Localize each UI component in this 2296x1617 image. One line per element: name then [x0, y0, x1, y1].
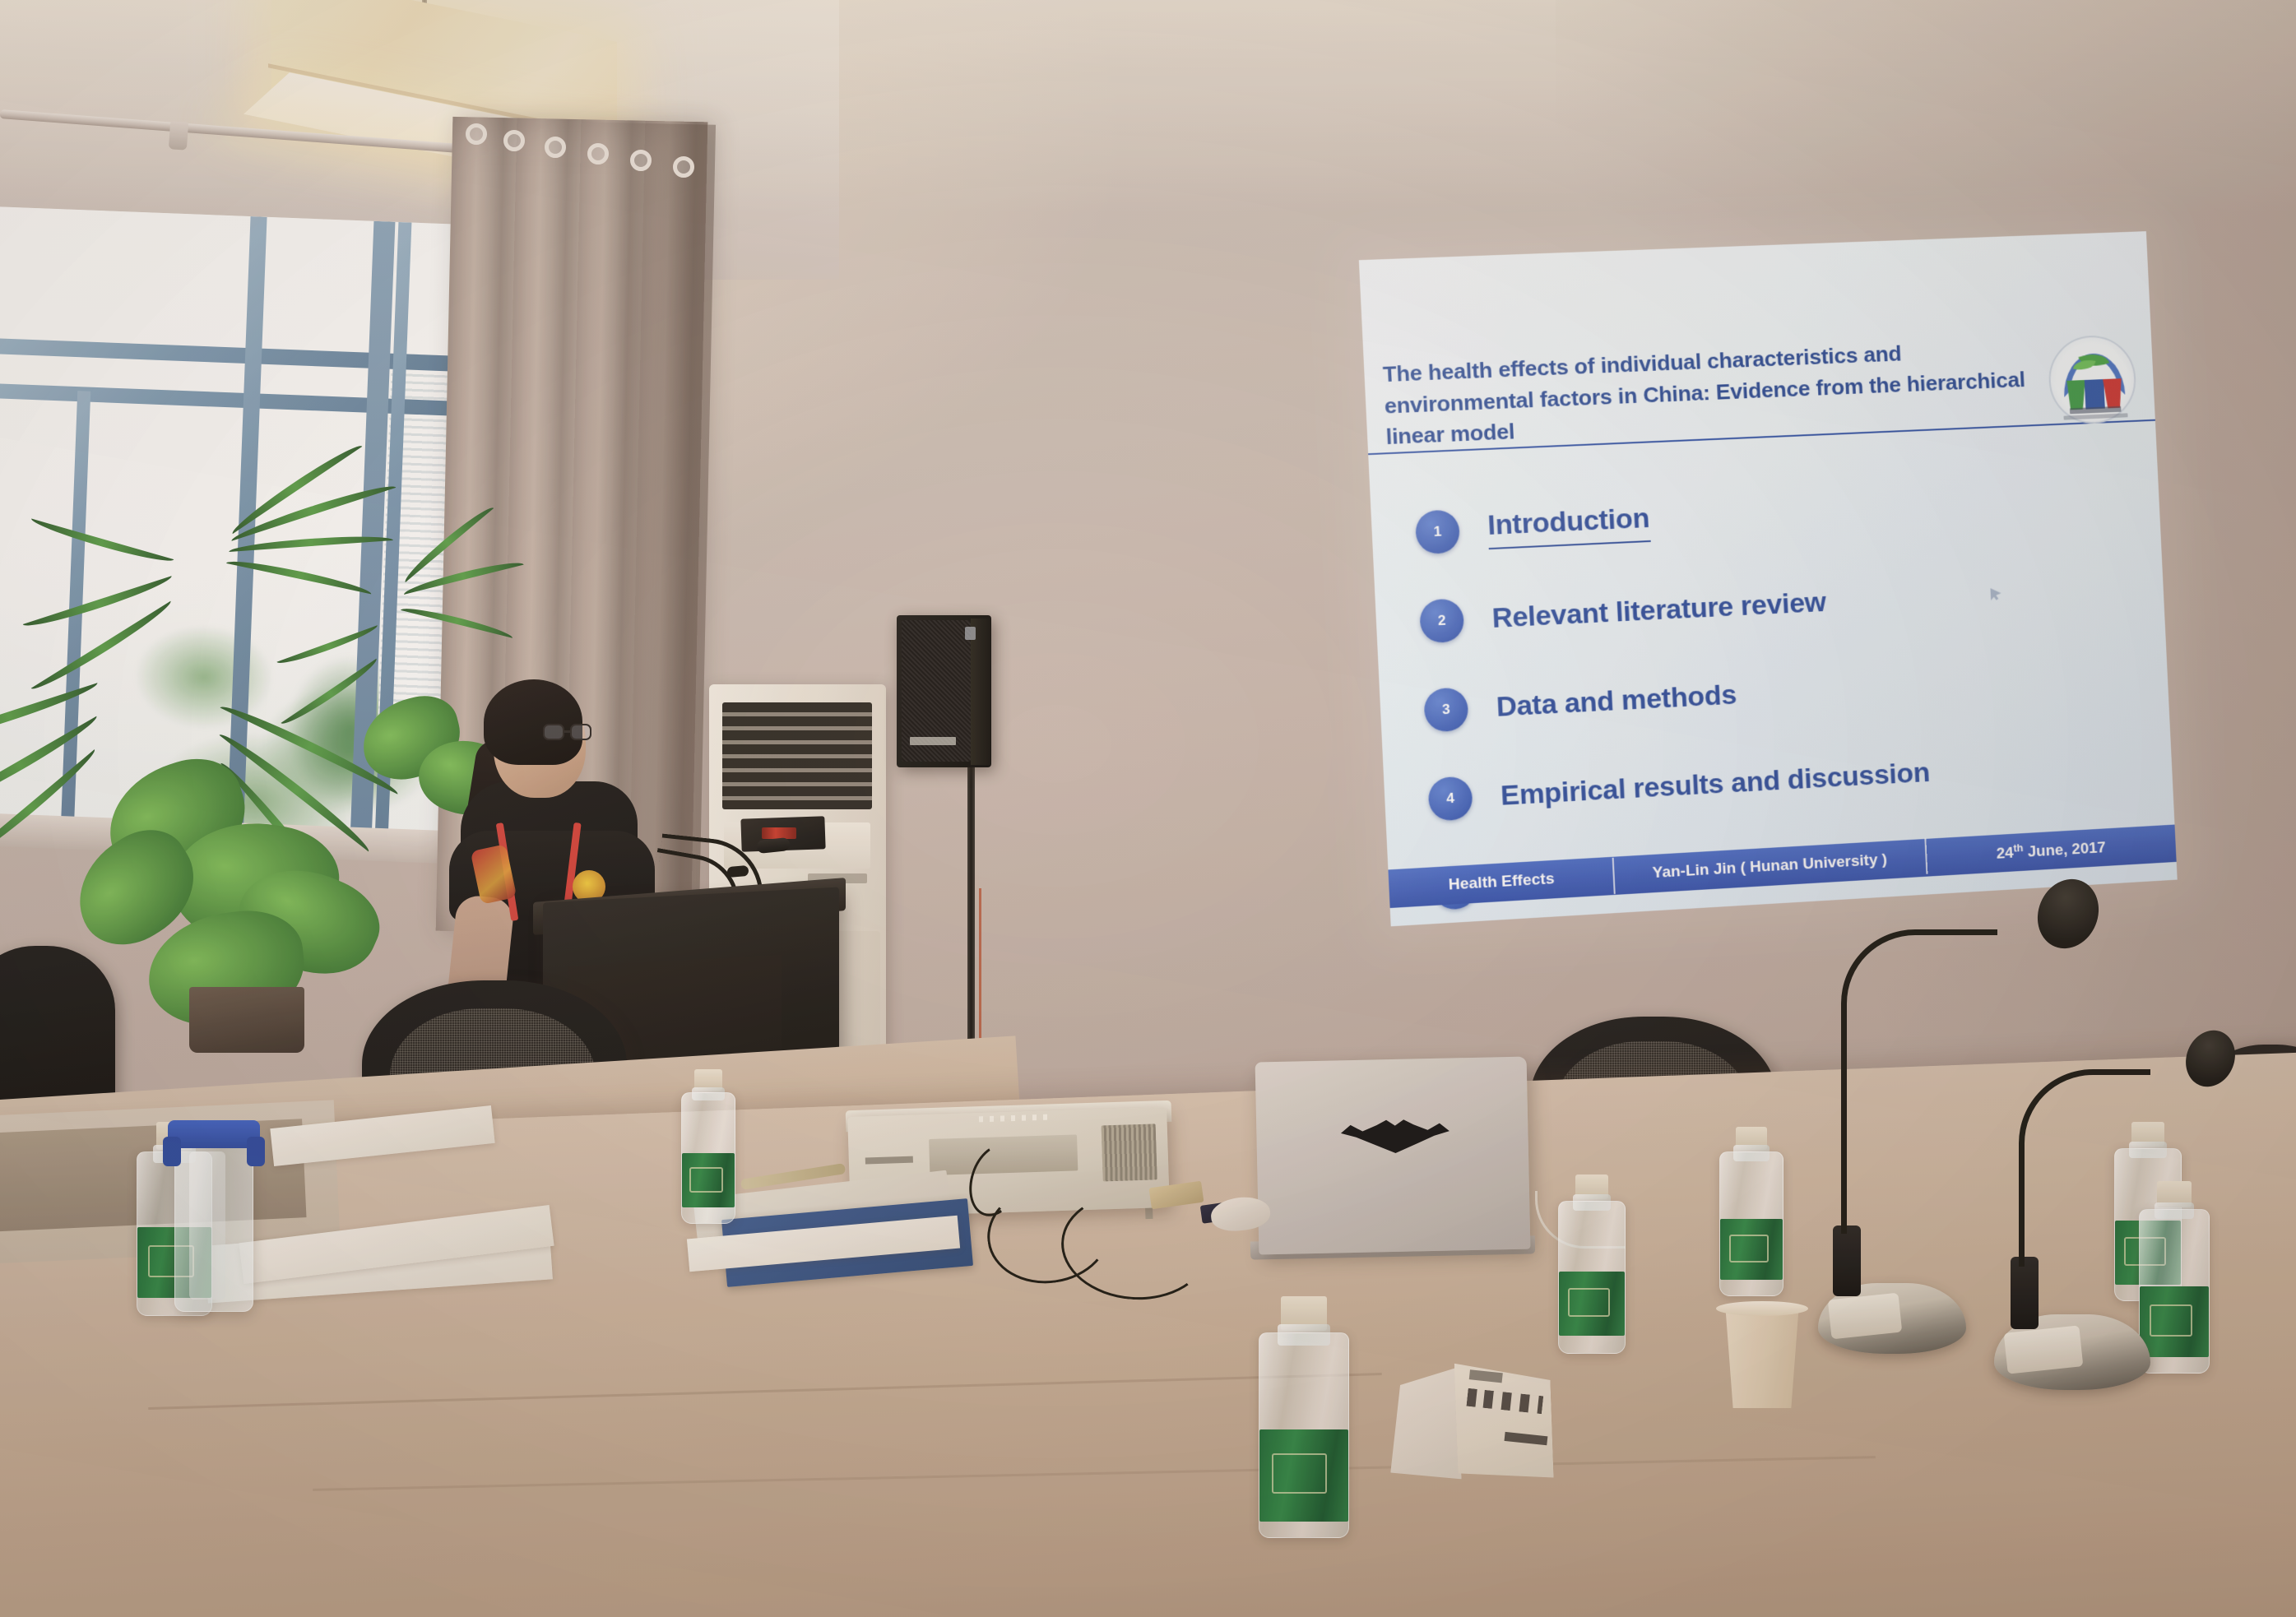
crest-name-text — [2070, 406, 2122, 415]
bottle-label — [682, 1153, 735, 1207]
slide-title: The health effects of individual charact… — [1382, 332, 2052, 453]
tumbler-clip-left — [163, 1137, 181, 1166]
outline-label-3: Data and methods — [1496, 679, 1737, 723]
water-bottle-center-right — [1558, 1201, 1626, 1354]
presenter-glasses-icon — [543, 724, 591, 742]
speaker-side-panel — [971, 619, 990, 765]
laptop — [1255, 1057, 1531, 1255]
mic-collar-2 — [2011, 1257, 2039, 1329]
footer-date-rest: June, 2017 — [2023, 840, 2106, 862]
outline-label-2: Relevant literature review — [1491, 586, 1827, 634]
crest-shield-green — [2066, 380, 2086, 410]
curtain-grommet — [587, 143, 609, 164]
bottle-label — [1259, 1429, 1348, 1522]
footer-date: 24th June, 2017 — [1925, 833, 2176, 869]
outline-number-4: 4 — [1427, 776, 1473, 821]
speaker-brand-logo — [910, 737, 956, 745]
mic-collar-1 — [1833, 1225, 1861, 1296]
tumbler-clip-right — [247, 1137, 265, 1166]
name-card-right-face — [1454, 1353, 1553, 1481]
mic-base-face-1 — [1828, 1293, 1903, 1340]
footer-date-day: 24 — [1996, 845, 2014, 863]
water-bottle-right — [1719, 1151, 1783, 1296]
crest-subtext — [2063, 413, 2127, 419]
table-name-card — [1386, 1353, 1552, 1482]
bottle-label — [1720, 1219, 1783, 1280]
outline-label-1: Introduction — [1487, 503, 1650, 549]
mic-gooseneck-2 — [2019, 1069, 2150, 1267]
paper-cup-rim — [1716, 1301, 1808, 1316]
pa-speaker — [897, 615, 991, 767]
outline-number-2: 2 — [1419, 598, 1465, 643]
footer-date-ordinal: th — [2013, 841, 2024, 855]
crest-shield-red — [2103, 378, 2122, 408]
curtain-grommet — [503, 130, 525, 151]
outline-item-1: 1 Introduction — [1414, 464, 2138, 569]
mic-base-face-2 — [2004, 1325, 2084, 1374]
outline-label-4: Empirical results and discussion — [1500, 757, 1930, 813]
conference-room-photo: The health effects of individual charact… — [0, 0, 2296, 1617]
outline-item-2: 2 Relevant literature review — [1418, 551, 2142, 659]
presenter-hair — [484, 679, 582, 765]
projector-brand-label — [865, 1156, 913, 1165]
ac-vent-grille — [722, 702, 872, 809]
projector-vent — [1102, 1124, 1157, 1181]
tumbler-infuser — [189, 1151, 225, 1300]
curtain-grommet — [545, 137, 566, 158]
curtain-grommet — [673, 156, 694, 178]
footer-topic: Health Effects — [1389, 867, 1613, 898]
slide-title-block: The health effects of individual charact… — [1363, 322, 2155, 456]
water-bottle-foreground — [1259, 1332, 1349, 1538]
bottle-label — [2140, 1286, 2209, 1357]
mic-gooseneck-1 — [1841, 929, 1997, 1234]
presentation-slide: The health effects of individual charact… — [1359, 231, 2178, 926]
projection-screen: The health effects of individual charact… — [1359, 231, 2178, 926]
bottle-label — [1559, 1272, 1625, 1336]
outline-number-1: 1 — [1415, 509, 1461, 554]
podium-mic-indicator-light — [762, 827, 796, 839]
name-card-left-face — [1387, 1367, 1462, 1481]
crest-shield-blue — [2085, 379, 2105, 410]
curtain-rod-bracket — [169, 121, 188, 150]
water-bottle-mid-left — [681, 1092, 735, 1224]
speaker-badge — [965, 627, 976, 640]
outline-number-3: 3 — [1423, 687, 1469, 732]
paper-cup — [1719, 1306, 1805, 1408]
university-crest-icon — [2047, 334, 2137, 425]
curtain-grommet — [466, 123, 487, 145]
curtain-grommet — [630, 150, 652, 171]
